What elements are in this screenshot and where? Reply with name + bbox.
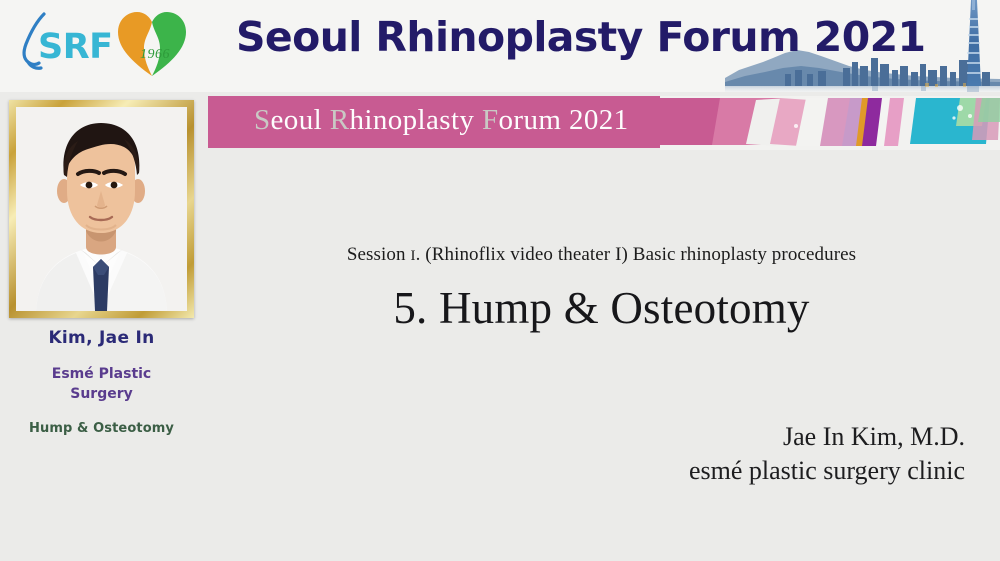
forum-title: Seoul Rhinoplasty Forum 2021 <box>236 13 926 61</box>
sidebar-speaker-name: Kim, Jae In <box>0 328 203 348</box>
presenter-clinic: esmé plastic surgery clinic <box>203 454 965 488</box>
heart-logo-icon: 1966 <box>110 6 194 80</box>
banner-cap-f: F <box>482 104 499 136</box>
banner-cap-s: S <box>254 104 271 136</box>
banner-word-forum: orum 2021 <box>498 104 628 136</box>
speaker-sidebar: Kim, Jae In Esmé Plastic Surgery Hump & … <box>0 96 203 561</box>
presentation-slide: SRF 1966 Seoul Rhinoplasty Forum 2021 Se… <box>0 0 1000 561</box>
srf-logo: SRF <box>14 8 119 76</box>
sidebar-topic: Hump & Osteotomy <box>0 421 203 436</box>
banner-word-seoul: eoul <box>271 104 330 136</box>
portrait-frame <box>9 100 194 318</box>
presenter-name: Jae In Kim, M.D. <box>203 420 965 454</box>
session-prefix: Session <box>347 244 411 265</box>
sidebar-clinic-line1: Esmé Plastic <box>0 366 203 382</box>
speaker-portrait <box>16 107 187 311</box>
slide-title: 5. Hump & Osteotomy <box>203 282 1000 334</box>
banner-title: Seoul Rhinoplasty Forum 2021 <box>254 104 629 137</box>
session-rest: . (Rhinoflix video theater I) Basic rhin… <box>416 244 857 265</box>
abstract-brushstroke-graphic <box>660 96 1000 150</box>
slide-header: SRF 1966 Seoul Rhinoplasty Forum 2021 <box>0 0 1000 92</box>
banner-word-rhinoplasty: hinoplasty <box>349 104 481 136</box>
session-subtitle: Session I. (Rhinoflix video theater I) B… <box>203 244 1000 266</box>
slide-body: Session I. (Rhinoflix video theater I) B… <box>203 152 1000 561</box>
presenter-block: Jae In Kim, M.D. esmé plastic surgery cl… <box>203 420 965 489</box>
srf-logo-text: SRF <box>38 27 113 67</box>
heart-logo-year: 1966 <box>140 47 170 62</box>
pink-banner: Seoul Rhinoplasty Forum 2021 <box>208 96 670 148</box>
sidebar-clinic-line2: Surgery <box>0 386 203 402</box>
banner-cap-r: R <box>330 104 350 136</box>
